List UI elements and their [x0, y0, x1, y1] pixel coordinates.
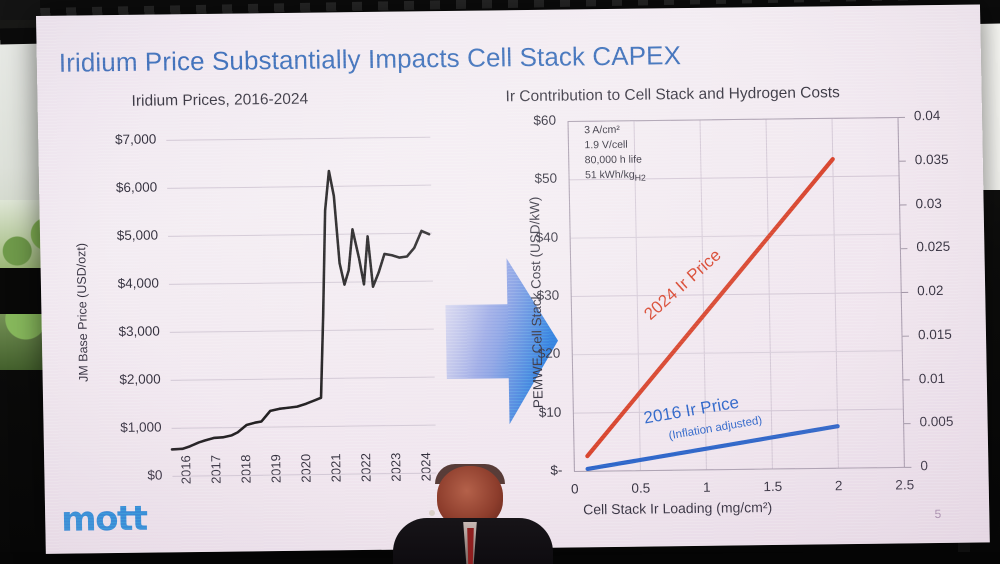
- presenter-microphone-icon: [429, 510, 435, 516]
- presenter-figure: [385, 466, 560, 564]
- ir-contribution-chart: PEMWE Cell Stack Cost (USD/kW) Hydrogen …: [498, 105, 976, 531]
- right-chart-title: Ir Contribution to Cell Stack and Hydrog…: [505, 84, 840, 106]
- page-number: 5: [934, 507, 941, 521]
- left-chart-title: Iridium Prices, 2016-2024: [131, 91, 308, 111]
- chart-annotation-notes: 3 A/cm² 1.9 V/cell 80,000 h life 51 kWh/…: [584, 123, 646, 185]
- screenshot-stage: Iridium Price Substantially Impacts Cell…: [0, 0, 1000, 564]
- right-chart-x-axis-title: Cell Stack Ir Loading (mg/cm²): [583, 499, 772, 517]
- annotation-current-density: 3 A/cm²: [584, 123, 645, 139]
- annotation-lifetime: 80,000 h life: [585, 152, 646, 168]
- right-chart-plot: [498, 105, 976, 531]
- mott-logo: mott: [61, 499, 147, 540]
- annotation-efficiency: 51 kWh/kgH2: [585, 167, 646, 184]
- annotation-efficiency-subscript: H2: [635, 172, 646, 182]
- annotation-cell-voltage: 1.9 V/cell: [584, 137, 645, 153]
- page-title: Iridium Price Substantially Impacts Cell…: [59, 40, 682, 79]
